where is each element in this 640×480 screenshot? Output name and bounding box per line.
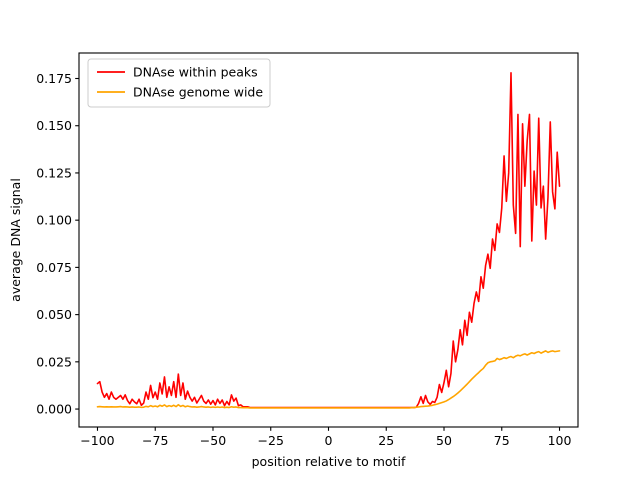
figure-canvas: −100−75−50−250255075100 0.0000.0250.0500… (0, 0, 640, 480)
y-axis-label: average DNA signal (8, 178, 23, 302)
y-tick-label: 0.175 (36, 71, 72, 86)
chart-plot: −100−75−50−250255075100 0.0000.0250.0500… (0, 0, 640, 480)
x-tick-label: −50 (200, 433, 226, 448)
y-tick-label: 0.150 (36, 118, 72, 133)
y-tick-label: 0.125 (36, 165, 72, 180)
legend-label-genome-wide: DNAse genome wide (133, 85, 263, 100)
y-tick-label: 0.100 (36, 213, 72, 228)
x-axis-label: position relative to motif (252, 454, 406, 469)
plot-frame (79, 53, 578, 427)
axes-spines (79, 53, 578, 427)
x-tick-label: 25 (378, 433, 394, 448)
y-axis-ticks: 0.0000.0250.0500.0750.1000.1250.1500.175 (36, 71, 79, 417)
series-line-genome-wide (97, 351, 559, 408)
legend-label-within-peaks: DNAse within peaks (133, 65, 258, 80)
chart-legend: DNAse within peaksDNAse genome wide (88, 59, 270, 107)
y-tick-label: 0.025 (36, 354, 72, 369)
data-series-group (97, 73, 559, 408)
x-tick-label: −75 (142, 433, 168, 448)
y-tick-label: 0.000 (36, 402, 72, 417)
x-tick-label: 75 (494, 433, 510, 448)
series-line-within-peaks (97, 73, 559, 408)
x-tick-label: −100 (80, 433, 114, 448)
x-tick-label: 0 (325, 433, 333, 448)
y-tick-label: 0.075 (36, 260, 72, 275)
x-tick-label: −25 (258, 433, 284, 448)
x-tick-label: 100 (548, 433, 572, 448)
x-axis-ticks: −100−75−50−250255075100 (80, 427, 571, 448)
y-tick-label: 0.050 (36, 307, 72, 322)
x-tick-label: 50 (436, 433, 452, 448)
